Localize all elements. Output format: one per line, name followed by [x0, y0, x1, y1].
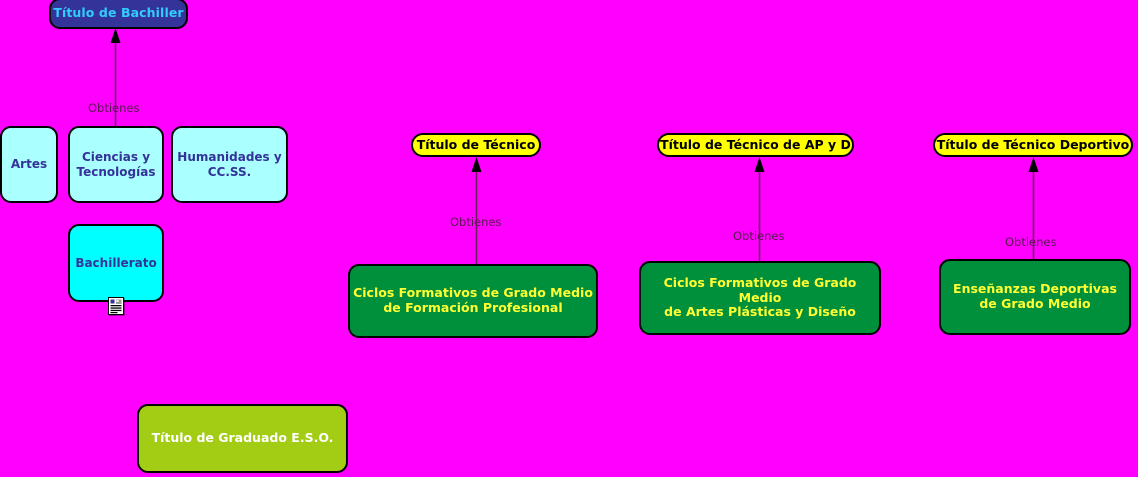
node-label: Ciclos Formativos de Grado Medio de Form… — [353, 286, 593, 316]
edge-label-obtienes-tecnico-apyd: Obtienes — [733, 229, 785, 243]
node-titulo-de-tecnico-ap-y-d[interactable]: Título de Técnico de AP y D — [657, 133, 854, 157]
edge-label-obtienes-tecnico-deportivo: Obtienes — [1005, 235, 1057, 249]
node-label-line1: Ciclos Formativos de Grado Medio — [353, 285, 593, 300]
arrow-ciclos-apyd-to-titulo-tecnico-apyd — [754, 157, 765, 262]
node-label-line2: de Grado Medio — [979, 296, 1090, 311]
node-titulo-graduado-eso[interactable]: Título de Graduado E.S.O. — [137, 404, 348, 473]
node-label: Título de Graduado E.S.O. — [152, 431, 334, 446]
node-titulo-de-tecnico[interactable]: Título de Técnico — [411, 133, 541, 157]
note-document-icon[interactable] — [108, 297, 124, 315]
diagram-canvas: Obtienes Título de Bachiller Artes Cienc… — [0, 0, 1138, 477]
node-label: Bachillerato — [75, 256, 156, 270]
arrow-ciclos-fp-to-titulo-tecnico — [471, 157, 482, 265]
node-bachillerato[interactable]: Bachillerato — [68, 224, 164, 302]
node-ciencias-y-tecnologias[interactable]: Ciencias y Tecnologías — [68, 126, 164, 203]
node-label: Título de Técnico Deportivo — [937, 138, 1130, 153]
node-label: Humanidades y CC.SS. — [177, 150, 281, 178]
node-label: Título de Técnico — [417, 138, 536, 153]
node-label: Ciencias y Tecnologías — [77, 150, 156, 178]
node-label: Título de Bachiller — [53, 6, 183, 21]
node-artes[interactable]: Artes — [0, 126, 58, 203]
node-label-line1: Ciclos Formativos de Grado Medio — [664, 275, 857, 305]
node-ciclos-formativos-grado-medio-fp[interactable]: Ciclos Formativos de Grado Medio de Form… — [348, 264, 598, 338]
node-label-line2: de Artes Plásticas y Diseño — [664, 304, 856, 319]
edge-label-obtienes-tecnico: Obtienes — [450, 215, 502, 229]
node-label-line2: Tecnologías — [77, 165, 156, 179]
node-label: Artes — [11, 157, 47, 171]
edge-label-obtienes-bachiller: Obtienes — [88, 101, 140, 115]
node-label-line1: Humanidades y — [177, 150, 281, 164]
node-label: Ciclos Formativos de Grado Medio de Arte… — [641, 276, 879, 320]
node-label-line2: CC.SS. — [208, 165, 251, 179]
arrow-bachillerato-to-titulo-bachiller — [110, 28, 121, 132]
node-titulo-de-tecnico-deportivo[interactable]: Título de Técnico Deportivo — [933, 133, 1133, 157]
node-ciclos-formativos-artes-plasticas-diseno[interactable]: Ciclos Formativos de Grado Medio de Arte… — [639, 261, 881, 335]
node-label-line1: Ciencias y — [82, 150, 150, 164]
node-label: Enseñanzas Deportivas de Grado Medio — [953, 282, 1117, 312]
node-label-line2: de Formación Profesional — [383, 300, 562, 315]
node-titulo-de-bachiller[interactable]: Título de Bachiller — [49, 0, 188, 29]
node-label: Título de Técnico de AP y D — [660, 138, 851, 153]
node-ensenanzas-deportivas-grado-medio[interactable]: Enseñanzas Deportivas de Grado Medio — [939, 259, 1131, 335]
node-humanidades-y-ccss[interactable]: Humanidades y CC.SS. — [171, 126, 288, 203]
node-label-line1: Enseñanzas Deportivas — [953, 281, 1117, 296]
